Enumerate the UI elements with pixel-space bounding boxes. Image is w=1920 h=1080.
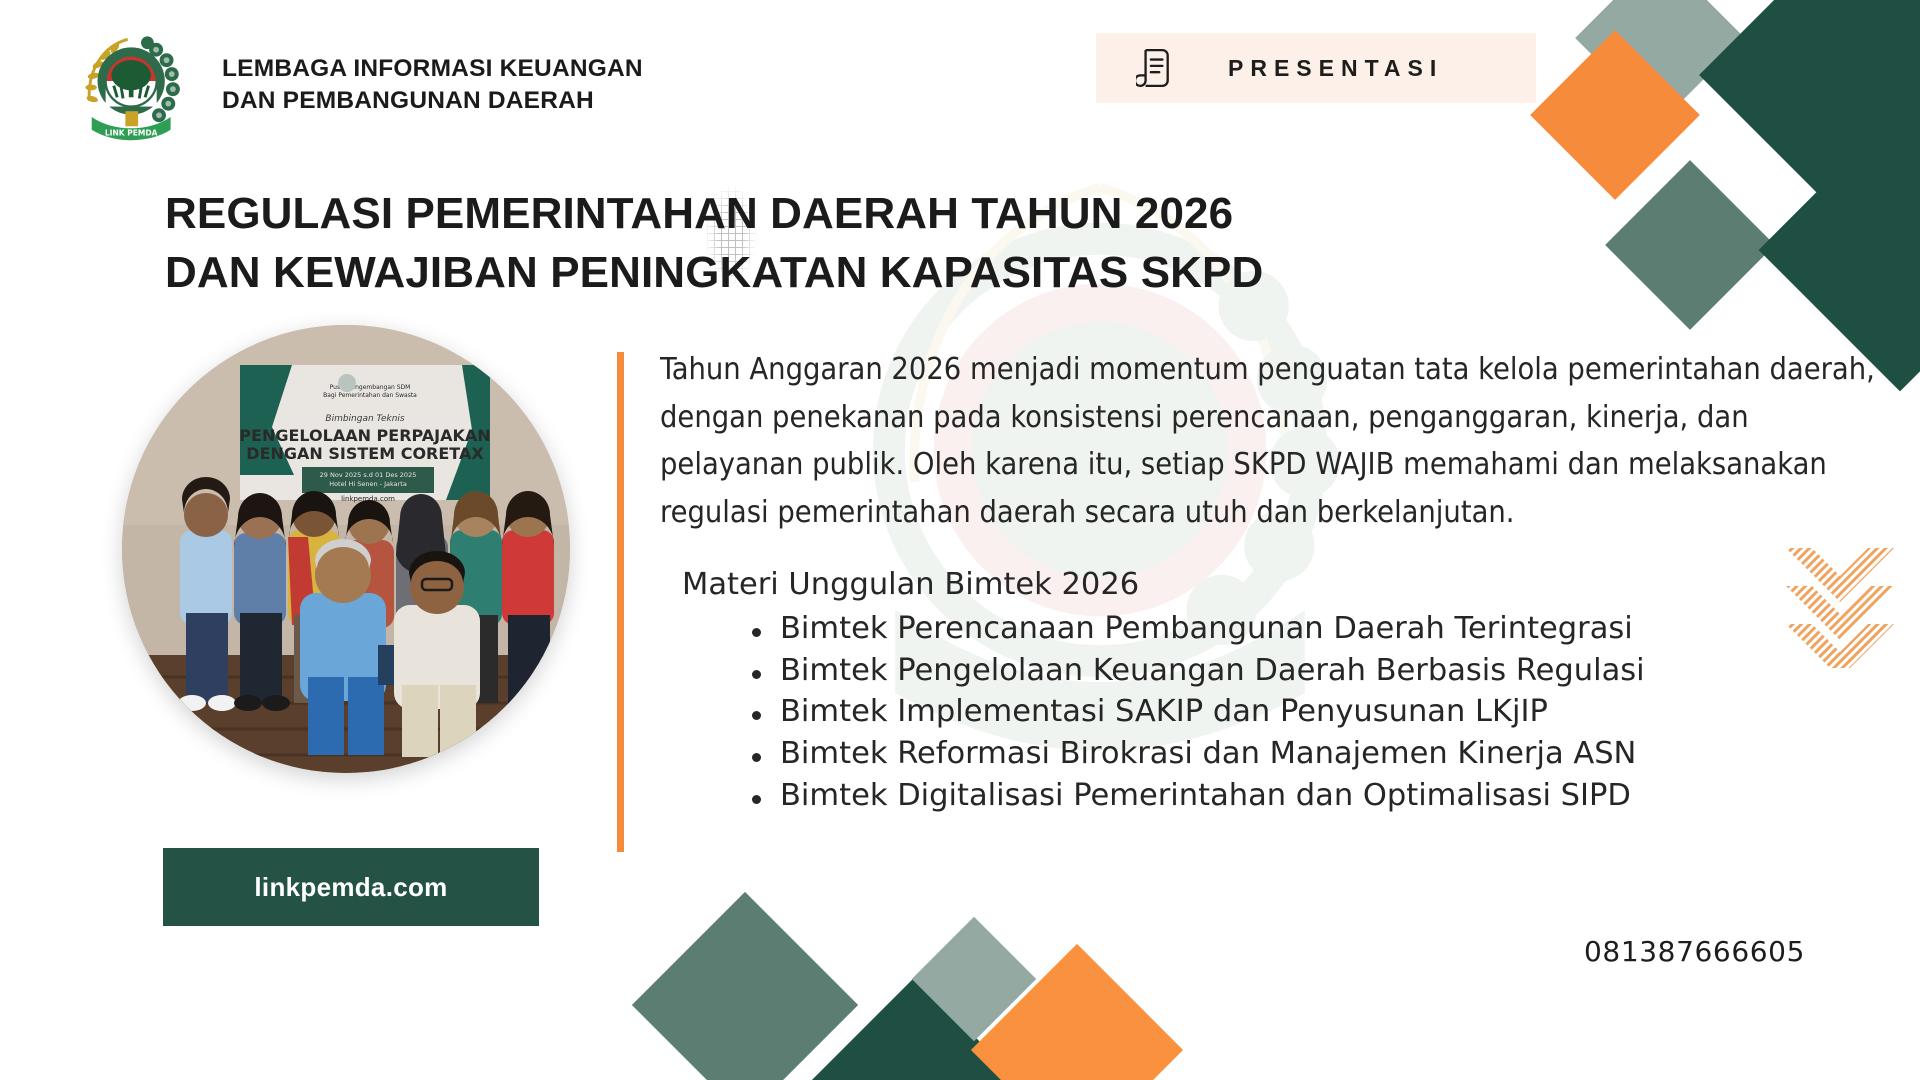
page-title-line1: REGULASI PEMERINTAHAN DAERAH TAHUN 2026	[165, 185, 1475, 244]
organization-logo: LINK PEMDA	[72, 30, 188, 146]
organization-name-line1: LEMBAGA INFORMASI KEUANGAN	[222, 53, 643, 85]
document-scroll-icon	[1136, 48, 1172, 88]
body-content: Tahun Anggaran 2026 menjadi momentum pen…	[660, 346, 1890, 817]
presentation-badge-label: PRESENTASI	[1228, 55, 1443, 82]
banner-dates: 29 Nov 2025 s.d 01 Des 2025	[320, 471, 417, 479]
accent-bar	[617, 352, 624, 852]
list-item: Bimtek Digitalisasi Pemerintahan dan Opt…	[752, 775, 1890, 817]
banner-org-line2: Bagi Pemerintahan dan Swasta	[323, 392, 417, 399]
materi-list: Bimtek Perencanaan Pembangunan Daerah Te…	[660, 608, 1890, 817]
group-photo: Pusat Pengembangan SDM Bagi Pemerintahan…	[122, 325, 570, 773]
list-item: Bimtek Reformasi Birokrasi dan Manajemen…	[752, 733, 1890, 775]
materi-subheading: Materi Unggulan Bimtek 2026	[682, 567, 1890, 602]
website-button[interactable]: linkpemda.com	[163, 848, 539, 926]
logo-ribbon-text: LINK PEMDA	[105, 129, 158, 138]
list-item: Bimtek Perencanaan Pembangunan Daerah Te…	[752, 608, 1890, 650]
banner-line2: DENGAN SISTEM CORETAX	[246, 444, 484, 463]
decorative-diamond-midgreen-topright2	[1605, 160, 1775, 330]
presentation-badge[interactable]: PRESENTASI	[1096, 33, 1536, 103]
group-photo-image: Pusat Pengembangan SDM Bagi Pemerintahan…	[122, 325, 570, 773]
website-button-label: linkpemda.com	[254, 872, 447, 903]
contact-phone: 081387666605	[1584, 935, 1805, 968]
organization-name: LEMBAGA INFORMASI KEUANGAN DAN PEMBANGUN…	[222, 53, 643, 118]
list-item: Bimtek Pengelolaan Keuangan Daerah Berba…	[752, 650, 1890, 692]
organization-name-line2: DAN PEMBANGUNAN DAERAH	[222, 85, 643, 117]
list-item: Bimtek Implementasi SAKIP dan Penyusunan…	[752, 691, 1890, 733]
page-title-line2: DAN KEWAJIBAN PENINGKATAN KAPASITAS SKPD	[165, 244, 1475, 303]
banner-script: Bimbingan Teknis	[325, 414, 404, 424]
page-title: REGULASI PEMERINTAHAN DAERAH TAHUN 2026 …	[165, 185, 1475, 303]
banner-venue: Hotel Hi Senen - Jakarta	[329, 480, 407, 488]
decorative-diamond-midgreen-bottom	[632, 892, 858, 1080]
intro-paragraph: Tahun Anggaran 2026 menjadi momentum pen…	[660, 346, 1890, 537]
presentation-slide: LINK PEMDA LEMBAGA INFORMASI KEUANGAN DA…	[0, 0, 1920, 1080]
banner-line1: PENGELOLAAN PERPAJAKAN	[239, 426, 490, 445]
